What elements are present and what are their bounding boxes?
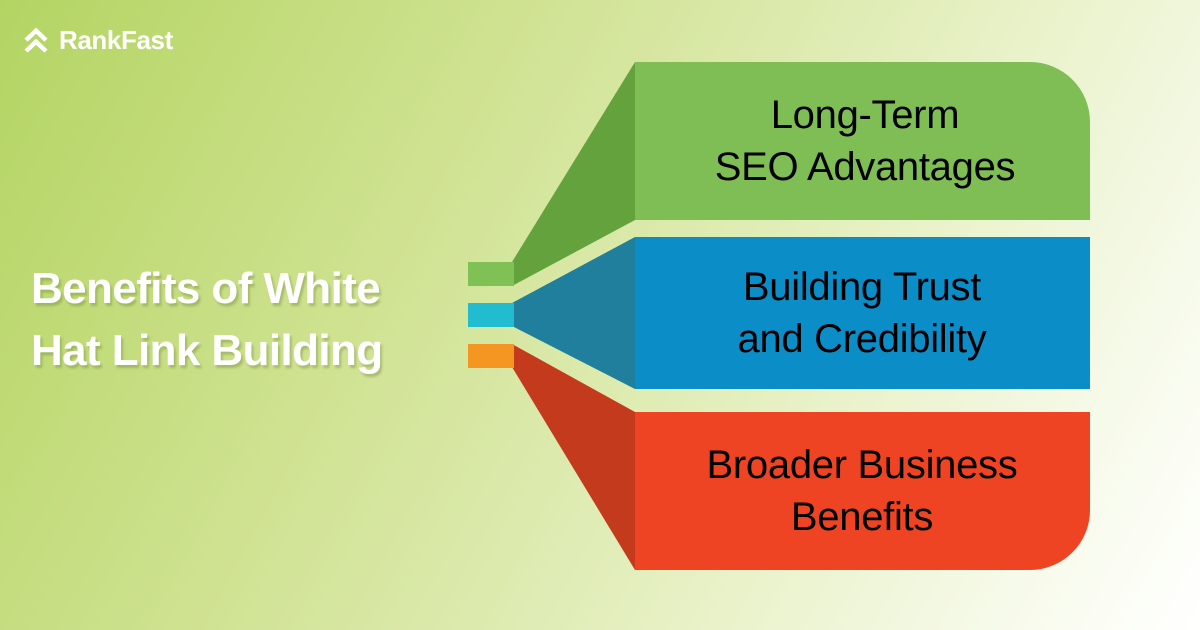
diagram-branch-building-trust-and-credibility [468,237,1090,389]
node-box-long-term-seo-advantages [635,62,1090,220]
tab-long-term-seo-advantages [468,262,514,286]
benefits-funnel-diagram [0,0,1200,630]
tab-broader-business-benefits [468,344,514,368]
tab-building-trust-and-credibility [468,303,514,327]
node-box-building-trust-and-credibility [635,237,1090,389]
node-box-broader-business-benefits [635,412,1090,570]
infographic-canvas: RankFast Benefits of White Hat Link Buil… [0,0,1200,630]
